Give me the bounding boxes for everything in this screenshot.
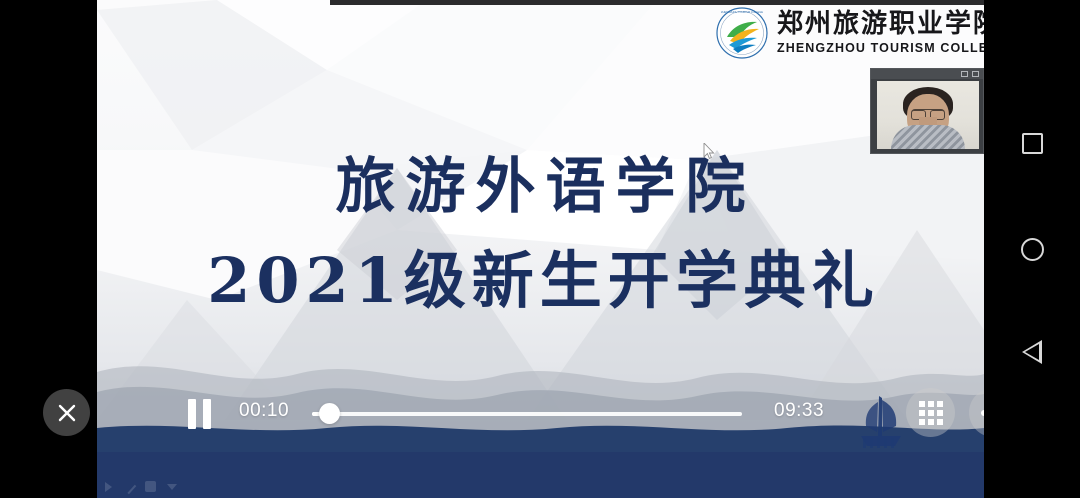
college-name-cn: 郑州旅游职业学院 <box>777 10 984 38</box>
shared-window-titlebar <box>330 0 984 5</box>
nav-recents-button[interactable] <box>1009 120 1055 166</box>
video-stage[interactable]: 旅游外语学院 2021级新生开学典礼 ZHENGZHOU TOURISM COL… <box>97 0 984 498</box>
pip-person-body <box>891 125 965 149</box>
player-controls: 00:10 09:33 <box>97 394 984 434</box>
grid-view-button[interactable] <box>906 388 955 437</box>
back-triangle-icon <box>1022 340 1042 364</box>
close-player-button[interactable] <box>43 389 90 436</box>
annotation-mini-toolbar[interactable] <box>105 481 177 492</box>
progress-fill <box>312 412 319 416</box>
mouse-pointer-icon <box>703 143 715 159</box>
close-icon <box>57 403 77 423</box>
pause-button[interactable] <box>188 399 214 429</box>
presenter-camera-pip[interactable] <box>870 68 984 154</box>
pip-close-icon[interactable] <box>972 71 979 77</box>
nav-back-button[interactable] <box>1009 329 1055 375</box>
pen-tool-icon[interactable] <box>121 479 137 495</box>
pause-icon-bar-left <box>188 399 196 429</box>
pointer-tool-icon[interactable] <box>105 482 112 492</box>
laser-tool-icon[interactable] <box>167 484 177 490</box>
progress-thumb[interactable] <box>319 403 340 424</box>
current-time-label: 00:10 <box>239 400 289 422</box>
college-emblem-icon: ZHENGZHOU TOURISM COLLEGE <box>715 6 769 60</box>
home-circle-icon <box>1021 238 1044 261</box>
android-navigation-bar <box>984 0 1080 498</box>
grid-view-icon <box>919 401 943 425</box>
eraser-tool-icon[interactable] <box>145 481 156 492</box>
nav-home-button[interactable] <box>1009 226 1055 272</box>
progress-slider[interactable] <box>312 411 742 417</box>
pause-icon-bar-right <box>203 399 211 429</box>
more-options-button[interactable] <box>969 388 984 437</box>
college-logo: ZHENGZHOU TOURISM COLLEGE 郑州旅游职业学院 ZHENG… <box>715 4 984 62</box>
total-time-label: 09:33 <box>774 400 824 422</box>
svg-text:ZHENGZHOU TOURISM COLLEGE: ZHENGZHOU TOURISM COLLEGE <box>721 10 763 14</box>
pip-video-feed <box>877 81 979 149</box>
pip-titlebar <box>871 69 983 79</box>
pip-restore-icon[interactable] <box>961 71 968 77</box>
progress-track <box>312 412 742 416</box>
phone-screen: 旅游外语学院 2021级新生开学典礼 ZHENGZHOU TOURISM COL… <box>0 0 1080 498</box>
college-name-en: ZHENGZHOU TOURISM COLLEGE <box>777 41 984 56</box>
recents-square-icon <box>1022 133 1043 154</box>
